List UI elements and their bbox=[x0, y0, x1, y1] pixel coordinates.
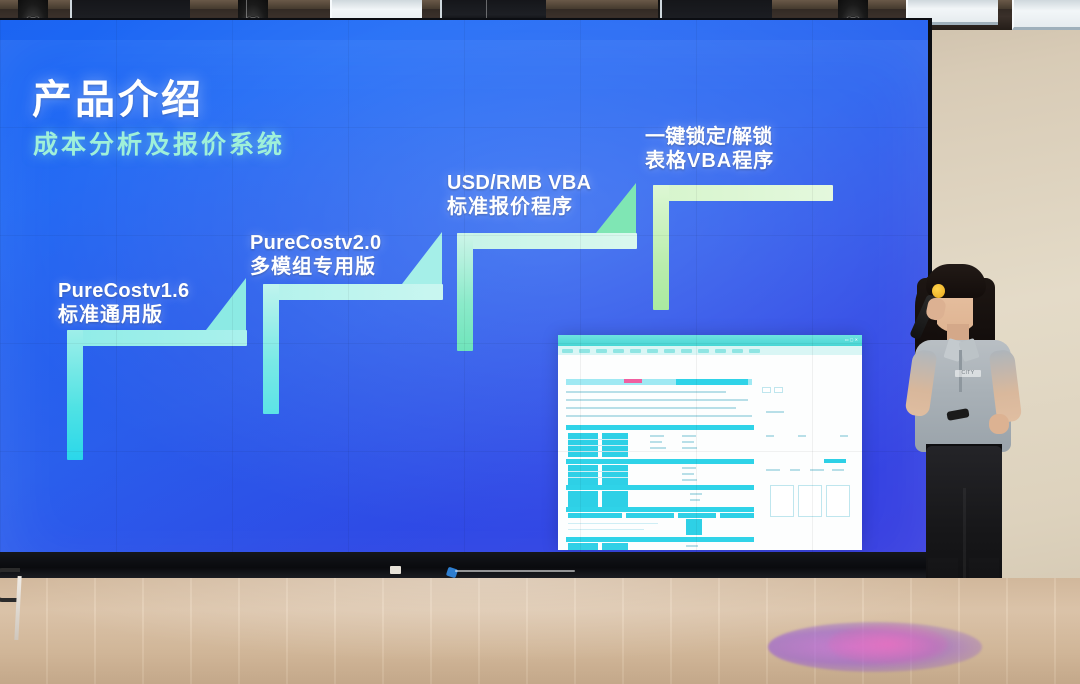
presentation-room-scene: 产品介绍 成本分析及报价系统 PureCostv1.6 标准通用版 PureCo… bbox=[0, 0, 1080, 684]
floor-light-projection-highlight bbox=[828, 624, 948, 664]
panel-light-icon bbox=[1012, 0, 1080, 30]
led-wall-base bbox=[0, 552, 932, 578]
step-4-line-1: 一键锁定/解锁 bbox=[645, 126, 774, 150]
step-1-vertical-bar bbox=[67, 330, 83, 460]
step-3-line-1: USD/RMB VBA bbox=[447, 172, 591, 196]
slide-subtitle: 成本分析及报价系统 bbox=[33, 125, 285, 161]
staircase-step-2-label: PureCostv2.0 多模组专用版 bbox=[250, 232, 381, 279]
spreadsheet-grid bbox=[558, 355, 862, 550]
step-4-horizontal-bar bbox=[653, 185, 833, 201]
led-display-wall: 产品介绍 成本分析及报价系统 PureCostv1.6 标准通用版 PureCo… bbox=[0, 20, 928, 560]
spreadsheet-screenshot: ▭ ▢ ✕ bbox=[558, 335, 862, 550]
triangle-up-right-icon bbox=[206, 278, 246, 330]
presenter-hand-right bbox=[989, 414, 1009, 434]
step-3-horizontal-bar bbox=[457, 233, 637, 249]
step-2-line-2: 多模组专用版 bbox=[250, 256, 381, 280]
spreadsheet-title-bar: ▭ ▢ ✕ bbox=[558, 335, 862, 346]
step-3-vertical-bar bbox=[457, 233, 473, 351]
step-1-line-1: PureCostv1.6 bbox=[58, 280, 189, 304]
spreadsheet-window-controls: ▭ ▢ ✕ bbox=[845, 337, 858, 342]
step-1-line-2: 标准通用版 bbox=[58, 304, 189, 328]
triangle-up-right-icon bbox=[596, 183, 636, 233]
step-3-line-2: 标准报价程序 bbox=[447, 196, 591, 220]
step-1-horizontal-bar bbox=[67, 330, 247, 346]
staircase-step-3-label: USD/RMB VBA 标准报价程序 bbox=[447, 172, 591, 219]
triangle-up-right-icon bbox=[402, 232, 442, 284]
floor-object bbox=[390, 566, 401, 574]
step-2-horizontal-bar bbox=[263, 284, 443, 300]
step-4-vertical-bar bbox=[653, 185, 669, 310]
staircase-step-1-label: PureCostv1.6 标准通用版 bbox=[58, 280, 189, 327]
step-2-vertical-bar bbox=[263, 284, 279, 414]
slide-title: 产品介绍 bbox=[32, 67, 204, 125]
staircase-step-4-label: 一键锁定/解锁 表格VBA程序 bbox=[645, 126, 774, 173]
step-2-line-1: PureCostv2.0 bbox=[250, 232, 381, 256]
presenter-shirt-logo: CITY bbox=[955, 370, 981, 377]
step-4-line-2: 表格VBA程序 bbox=[645, 150, 774, 174]
spreadsheet-ribbon bbox=[558, 346, 862, 355]
microphone-head-icon bbox=[932, 284, 945, 298]
floor-cable bbox=[455, 570, 575, 572]
